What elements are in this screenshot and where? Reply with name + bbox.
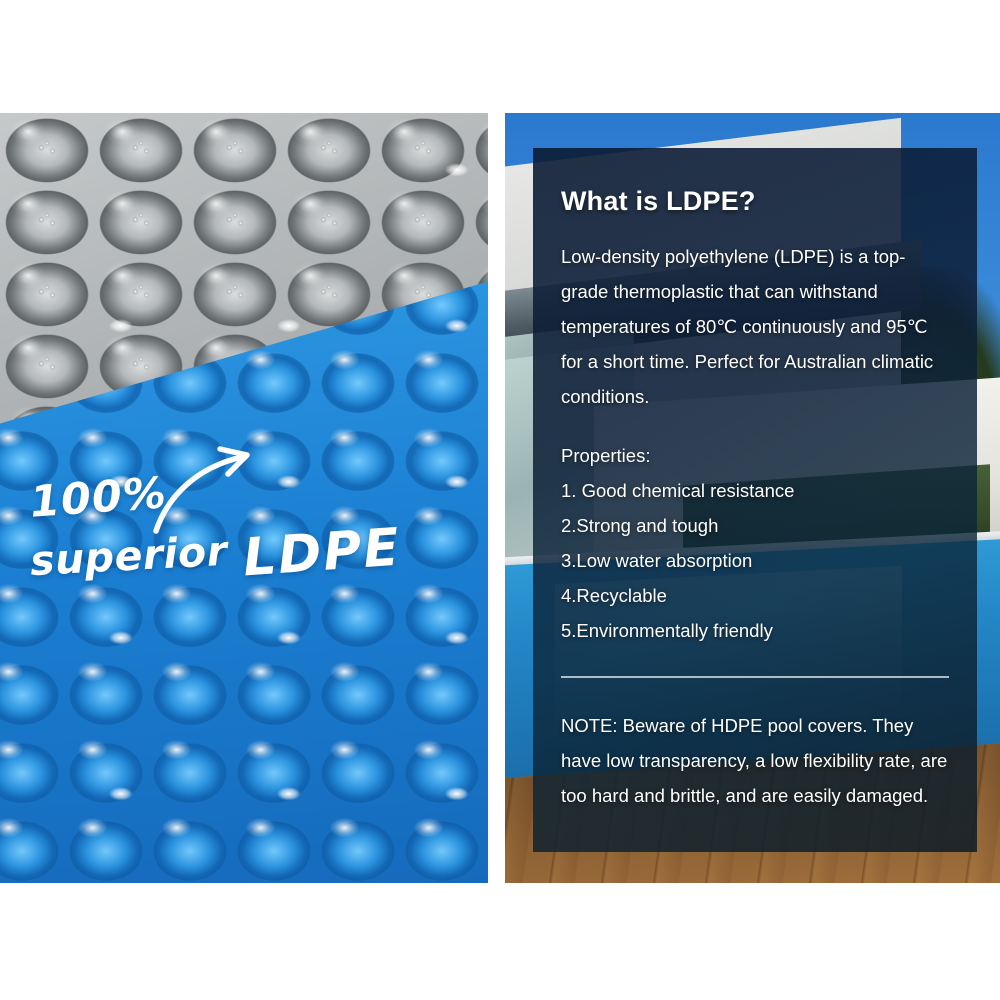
note-text: NOTE: Beware of HDPE pool covers. They h… [561, 708, 949, 813]
list-item: 2.Strong and tough [561, 508, 949, 543]
right-panel-pool-photo: What is LDPE? Low-density polyethylene (… [505, 113, 1000, 883]
info-card: What is LDPE? Low-density polyethylene (… [533, 148, 977, 852]
card-title: What is LDPE? [561, 186, 949, 217]
properties-list: 1. Good chemical resistance 2.Strong and… [561, 473, 949, 648]
list-item: 1. Good chemical resistance [561, 473, 949, 508]
card-intro-text: Low-density polyethylene (LDPE) is a top… [561, 239, 949, 414]
list-item: 5.Environmentally friendly [561, 613, 949, 648]
marketing-image: 100% superior LDPE What is LDPE? Low-den… [0, 0, 1000, 1000]
section-divider [561, 676, 949, 678]
note-section: NOTE: Beware of HDPE pool covers. They h… [561, 708, 949, 813]
list-item: 3.Low water absorption [561, 543, 949, 578]
intro-paragraph: Low-density polyethylene (LDPE) is a top… [561, 239, 949, 414]
list-item: 4.Recyclable [561, 578, 949, 613]
properties-heading: Properties: [561, 438, 949, 473]
left-panel-bubble-photo: 100% superior LDPE [0, 113, 488, 883]
